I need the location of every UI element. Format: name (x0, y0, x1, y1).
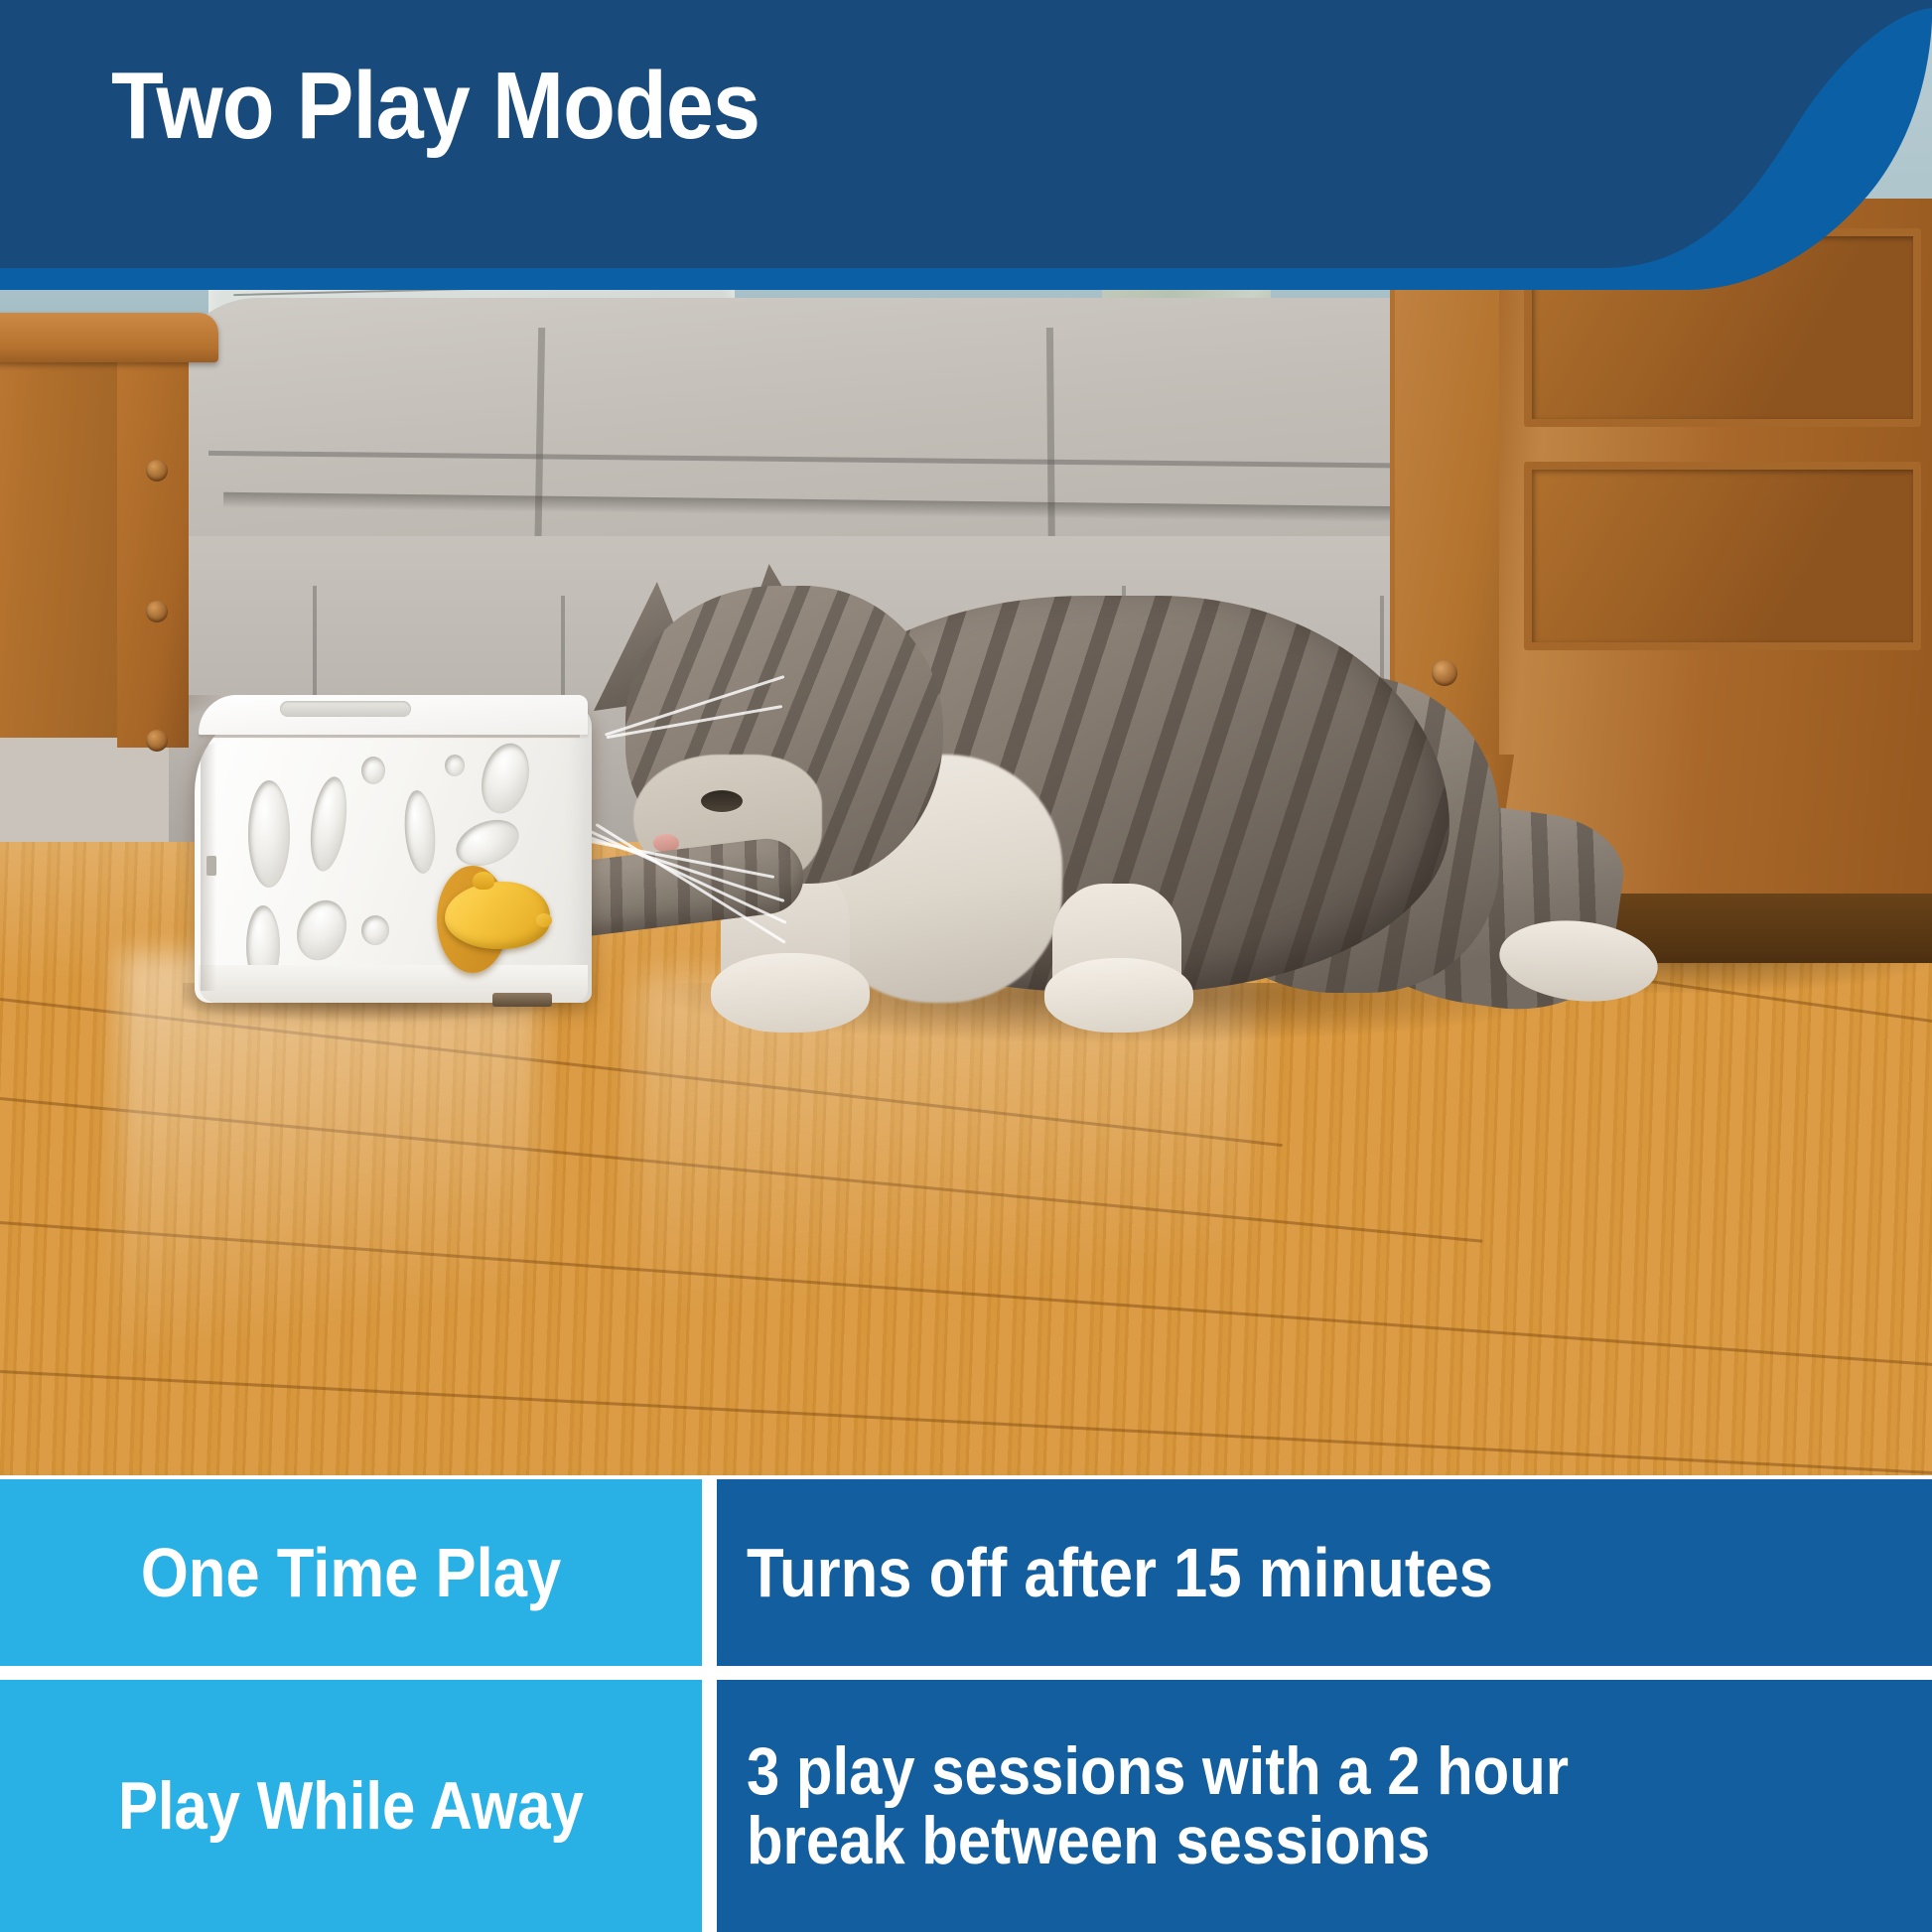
cat-front-paw (711, 953, 870, 1033)
mode-label: One Time Play (141, 1537, 561, 1608)
wooden-side-stool (0, 313, 218, 740)
toy-power-button[interactable] (280, 701, 411, 717)
wood-peg (146, 730, 168, 752)
table-row: One Time Play Turns off after 15 minutes (0, 1479, 1932, 1666)
toy-side-notch (207, 856, 216, 876)
mode-description: Turns off after 15 minutes (747, 1537, 1493, 1608)
toy-lid-seam (208, 735, 580, 738)
play-modes-table: One Time Play Turns off after 15 minutes… (0, 1477, 1932, 1932)
toy-hole (361, 915, 389, 945)
cabinet-drawer-panel (1524, 228, 1921, 427)
mouse-ear (473, 872, 494, 890)
mouse-body (445, 882, 550, 949)
mode-label-cell-one-time-play[interactable]: One Time Play (0, 1479, 702, 1666)
wood-peg (146, 601, 168, 622)
cat-back-paw (1044, 958, 1193, 1033)
cat (556, 556, 1648, 1052)
toy-hole (445, 755, 465, 776)
yellow-mouse-toy (437, 866, 566, 975)
mode-value-cell-one-time-play[interactable]: Turns off after 15 minutes (717, 1479, 1932, 1666)
mode-value-cell-play-while-away[interactable]: 3 play sessions with a 2 hour break betw… (717, 1680, 1932, 1932)
mouse-nose (536, 913, 552, 927)
toy-foot (492, 993, 552, 1007)
mode-label-cell-play-while-away[interactable]: Play While Away (0, 1680, 702, 1932)
toy-hole (361, 757, 385, 784)
wood-peg (1432, 228, 1457, 254)
stool-leg (0, 360, 117, 738)
cat-eye (701, 790, 743, 812)
mode-description: 3 play sessions with a 2 hour break betw… (747, 1736, 1569, 1875)
stool-top (0, 313, 218, 362)
toy-hole (248, 780, 290, 888)
infographic-page: Two Play Modes One Time Play Turns off a… (0, 0, 1932, 1932)
wood-peg (146, 460, 168, 482)
floor-reflection (119, 953, 536, 1469)
stool-leg (117, 360, 189, 748)
table-row: Play While Away 3 play sessions with a 2… (0, 1680, 1932, 1932)
product-photo (0, 0, 1932, 1475)
cheese-wedge-cat-toy (195, 695, 592, 1023)
mode-label: Play While Away (118, 1771, 584, 1841)
